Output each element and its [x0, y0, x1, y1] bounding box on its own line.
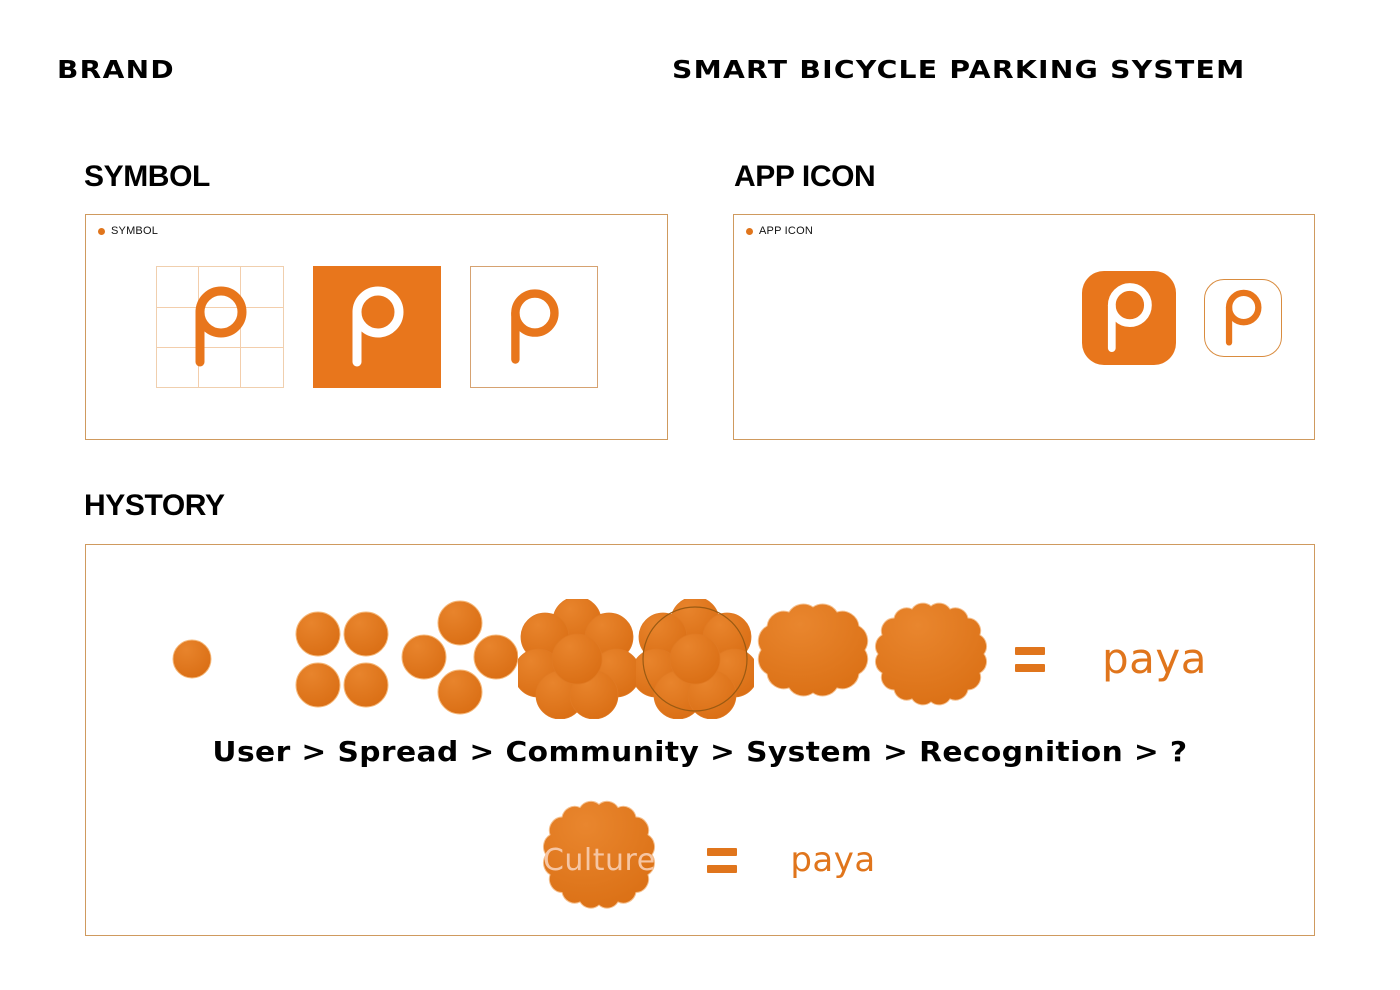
symbol-panel-label: SYMBOL: [98, 225, 158, 237]
app-icon-letter-p-icon: [1103, 281, 1155, 355]
evolution-stage-nine-dot-cluster: [518, 599, 636, 719]
evolution-stage-solid-scalloped-blob: [872, 599, 990, 719]
bullet-dot-icon: [98, 228, 105, 235]
culture-badge: Culture: [524, 795, 674, 925]
equals-bar-top: [1015, 647, 1045, 655]
evolution-tagline: User > Spread > Community > System > Rec…: [49, 735, 1351, 768]
paya-wordmark: paya: [1102, 638, 1207, 680]
scalloped-blob-icon: [872, 599, 990, 719]
brand-label: BRAND: [57, 55, 175, 84]
symbol-variant-grid-construction[interactable]: [156, 266, 284, 388]
symbol-panel-label-text: SYMBOL: [111, 225, 158, 237]
symbol-variant-outline-white[interactable]: [470, 266, 598, 388]
equals-bar-bottom: [707, 865, 737, 873]
evolution-sequence-row: paya: [86, 589, 1314, 729]
document-title: SMART BICYCLE PARKING SYSTEM: [672, 55, 1245, 84]
evolution-stage-four-dots-square: [282, 599, 400, 719]
evolution-stage-four-dots-diamond: [400, 599, 518, 719]
symbol-letter-p-icon: [506, 287, 562, 367]
app-icon-panel: APP ICON: [733, 214, 1315, 440]
section-heading-hystory: HYSTORY: [84, 489, 225, 523]
four-dots-diamond-icon: [400, 599, 518, 719]
evolution-equals-sign: [990, 599, 1070, 719]
app-icon-outline-white[interactable]: [1204, 279, 1282, 357]
section-heading-app-icon: APP ICON: [734, 160, 875, 194]
section-heading-symbol: SYMBOL: [84, 160, 210, 194]
app-icon-row: [1082, 271, 1282, 365]
four-dots-square-icon: [282, 599, 400, 719]
cluster-in-circle-icon: [636, 599, 754, 719]
eight-lobe-blob-icon: [754, 599, 872, 719]
symbol-variant-row: [86, 259, 667, 395]
single-dot-icon: [164, 599, 282, 719]
equals-bar-top: [707, 848, 737, 856]
app-icon-filled-orange[interactable]: [1082, 271, 1176, 365]
nine-dot-cluster-icon: [518, 599, 636, 719]
bullet-dot-icon: [746, 228, 753, 235]
culture-label: Culture: [543, 843, 656, 878]
evolution-stage-single-dot: [164, 599, 282, 719]
equals-bar-bottom: [1015, 664, 1045, 672]
culture-equation-row: Culture paya: [86, 795, 1314, 925]
hystory-panel: paya User > Spread > Community > System …: [85, 544, 1315, 936]
symbol-letter-p-icon: [347, 284, 407, 370]
app-icon-letter-p-icon: [1222, 288, 1264, 348]
symbol-panel: SYMBOL: [85, 214, 668, 440]
culture-equals-sign: [674, 815, 770, 905]
symbol-letter-p-icon: [190, 284, 250, 370]
symbol-variant-solid-orange[interactable]: [313, 266, 441, 388]
page-header: BRAND SMART BICYCLE PARKING SYSTEM: [0, 0, 1400, 120]
culture-paya-wordmark: paya: [790, 843, 875, 877]
evolution-stage-solid-eight-lobe-blob: [754, 599, 872, 719]
app-icon-panel-label-text: APP ICON: [759, 225, 813, 237]
evolution-stage-cluster-in-circle: [636, 599, 754, 719]
app-icon-panel-label: APP ICON: [746, 225, 813, 237]
